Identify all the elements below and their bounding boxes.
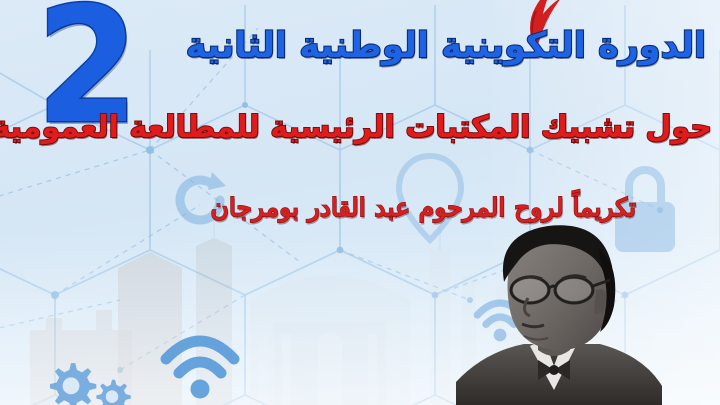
poster-canvas: 2 الدورة التكوينية الوطنية الثانية حول ت… — [0, 0, 720, 405]
headline-block: 2 الدورة التكوينية الوطنية الثانية حول ت… — [0, 0, 720, 250]
wifi-signal-icon — [152, 325, 248, 399]
poster-title-blue: الدورة التكوينية الوطنية الثانية — [66, 26, 706, 67]
poster-subtitle-red: حول تشبيك المكتبات الرئيسية للمطالعة الع… — [6, 111, 712, 146]
gear-small-icon — [92, 376, 132, 405]
poster-tribute-line: تكريماً لروح المرحوم عبد القادر بومرجان — [76, 193, 636, 223]
gear-icon — [44, 358, 98, 405]
